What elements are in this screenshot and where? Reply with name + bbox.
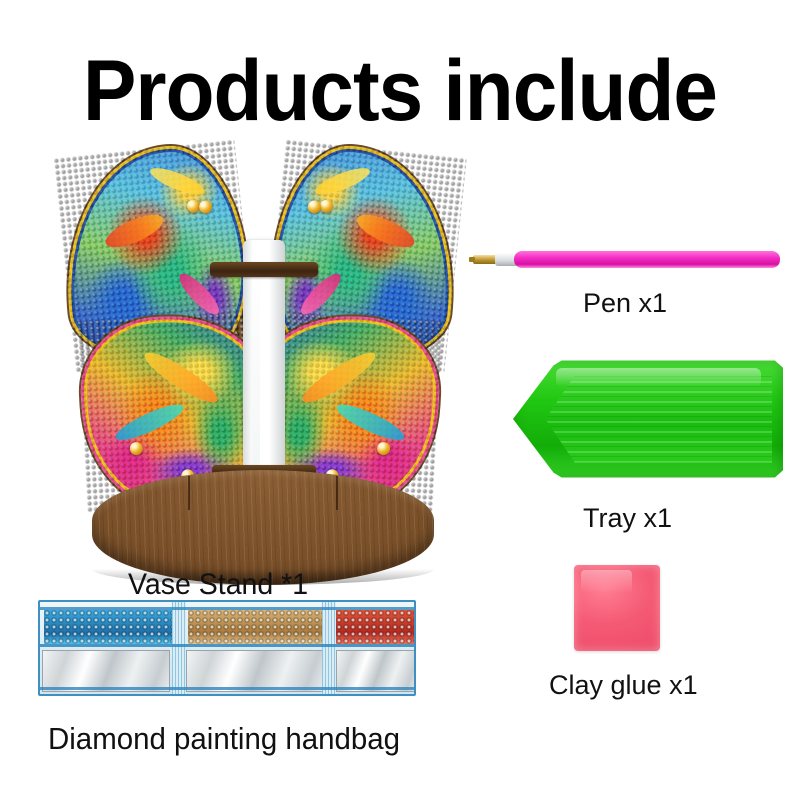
wood-collar-top [210,262,318,277]
bag-mid-seam [40,644,414,647]
clay-glue-square [574,565,660,651]
wing-vein [353,208,419,253]
product-contents-poster: Products include [0,0,800,800]
product-tray [513,358,783,480]
wing-vein [333,399,408,447]
product-pen [470,243,790,283]
wing-vein [297,346,380,410]
foil-baggie [42,650,170,692]
rhinestone-fill [188,610,322,644]
label-diamond-painting-handbag: Diamond painting handbag [48,723,400,754]
label-tray: Tray x1 [583,505,672,532]
tray-ribbed-interior [545,371,772,466]
bag-divider [322,602,336,694]
product-vase-stand [60,140,460,570]
base-slot [188,476,190,510]
page-title: Products include [28,48,772,134]
foil-baggie [336,650,416,692]
wing-vein [313,163,373,200]
label-pen: Pen x1 [583,290,667,317]
gold-dome-bead [319,199,333,213]
drill-pocket-gold [188,610,322,644]
wing-vein [112,399,187,447]
bag-top-seam [40,607,414,610]
wing-vein [140,346,223,410]
gold-dome-bead [130,442,144,456]
drill-pocket-red [336,610,414,644]
product-diamond-painting-handbag [38,600,416,696]
gold-dome-bead [199,200,213,214]
gold-dome-bead [307,200,321,214]
label-clay-glue: Clay glue x1 [549,672,698,699]
gold-dome-bead [377,442,391,456]
bag-bottom-seam [40,687,414,690]
base-slot [336,476,338,510]
bag-divider [172,602,186,694]
rhinestone-fill [336,610,414,644]
wing-vein [147,163,207,200]
drill-pocket-blue [44,610,172,644]
rhinestone-fill [44,610,172,644]
pen-barrel [514,251,780,268]
label-vase-stand: Vase Stand *1 [128,570,308,600]
handbag-body [38,600,416,696]
product-clay-glue [574,565,660,651]
foil-baggie [186,650,324,692]
wing-vein [101,208,167,253]
